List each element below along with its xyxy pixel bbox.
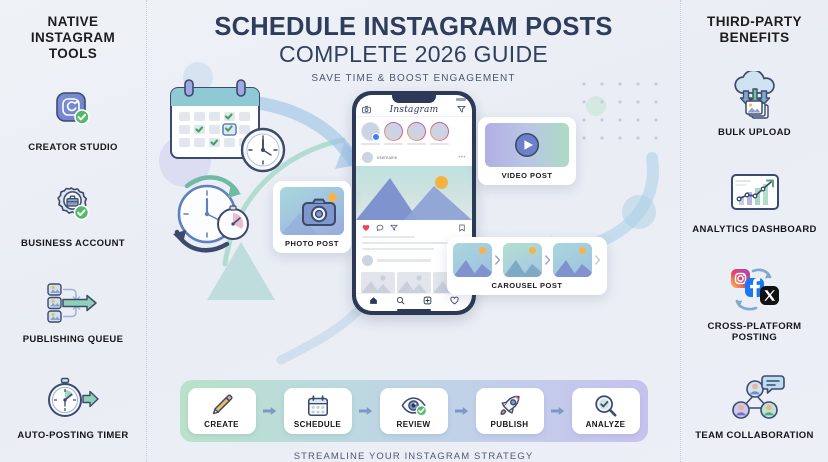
stopwatch-icon: [42, 374, 104, 424]
infographic-poster: NATIVE INSTAGRAM TOOLS: [0, 0, 828, 462]
post-username: username: [377, 155, 397, 160]
sidebar-item-creator-studio[interactable]: CREATOR STUDIO: [6, 86, 140, 154]
workflow-arrow-icon: [359, 406, 373, 416]
calendar-icon: [306, 394, 330, 418]
caption-line: [377, 259, 431, 261]
sidebar-item-bulk-upload[interactable]: BULK UPLOAD: [687, 71, 822, 139]
chevron-right-icon[interactable]: [594, 254, 601, 266]
post-header: username •••: [356, 149, 472, 166]
avatar: [362, 152, 373, 163]
sidebar-item-label: BULK UPLOAD: [718, 127, 791, 139]
avatar: [362, 255, 373, 266]
right-sidebar-title: THIRD-PARTY BENEFITS: [687, 14, 822, 46]
right-sidebar-items: BULK UPLOAD: [687, 56, 822, 456]
bottom-tab-bar[interactable]: [356, 293, 472, 308]
post-image: [356, 166, 472, 220]
left-sidebar: NATIVE INSTAGRAM TOOLS: [0, 0, 147, 462]
sidebar-item-business-account[interactable]: BUSINESS ACCOUNT: [6, 182, 140, 250]
search-icon[interactable]: [396, 296, 405, 305]
workflow-step-create[interactable]: CREATE: [188, 388, 256, 434]
workflow-arrow-icon: [455, 406, 469, 416]
magnifier-check-icon: [594, 394, 618, 418]
story-item[interactable]: [407, 122, 426, 145]
bookmark-icon[interactable]: [458, 224, 466, 232]
header-block: SCHEDULE INSTAGRAM POSTS COMPLETE 2026 G…: [214, 0, 612, 84]
home-icon[interactable]: [369, 296, 378, 305]
workflow-arrow-icon: [263, 406, 277, 416]
cloud-upload-icon: [726, 71, 784, 121]
workflow-step-analyze[interactable]: ANALYZE: [572, 388, 640, 434]
left-sidebar-items: CREATOR STUDIO BUSINESS ACCOUNT: [6, 72, 140, 456]
workflow-step-label: REVIEW: [397, 420, 431, 429]
play-icon: [514, 132, 540, 158]
workflow-step-schedule[interactable]: SCHEDULE: [284, 388, 352, 434]
workflow-arrow-icon: [551, 406, 565, 416]
center-panel: SCHEDULE INSTAGRAM POSTS COMPLETE 2026 G…: [147, 0, 680, 462]
carousel-thumb[interactable]: [453, 243, 492, 277]
publishing-queue-icon: [42, 278, 104, 328]
story-item-own[interactable]: [361, 122, 380, 145]
stories-row[interactable]: [356, 117, 472, 149]
calendar-clock-illustration: [159, 76, 289, 176]
sidebar-item-auto-posting-timer[interactable]: AUTO-POSTING TIMER: [6, 374, 140, 442]
sidebar-item-publishing-queue[interactable]: PUBLISHING QUEUE: [6, 278, 140, 346]
photo-post-label: PHOTO POST: [280, 239, 344, 248]
more-options-icon[interactable]: •••: [458, 155, 466, 161]
video-post-label: VIDEO POST: [485, 171, 569, 180]
grid-thumb[interactable]: [361, 272, 395, 293]
instagram-wordmark: Instagram: [390, 105, 439, 115]
photo-post-thumbnail: [280, 187, 344, 235]
workflow-bar: CREATE SCHEDULE: [180, 380, 648, 442]
heart-icon[interactable]: [362, 224, 370, 232]
caption-line: [362, 242, 455, 244]
sidebar-item-label: AUTO-POSTING TIMER: [17, 430, 128, 442]
page-subtitle: COMPLETE 2026 GUIDE: [214, 42, 612, 67]
sidebar-item-label: BUSINESS ACCOUNT: [21, 238, 125, 250]
workflow-step-label: SCHEDULE: [294, 420, 341, 429]
carousel-thumb[interactable]: [553, 243, 592, 277]
footer-tagline: STREAMLINE YOUR INSTAGRAM STRATEGY: [294, 451, 534, 462]
grid-thumb[interactable]: [397, 272, 431, 293]
eye-check-icon: [401, 394, 427, 418]
page-title: SCHEDULE INSTAGRAM POSTS: [214, 14, 612, 40]
sidebar-item-label: CREATOR STUDIO: [28, 142, 118, 154]
rocket-icon: [498, 394, 522, 418]
photo-post-card[interactable]: PHOTO POST: [273, 181, 351, 253]
activity-icon[interactable]: [450, 296, 459, 305]
sidebar-item-label: TEAM COLLABORATION: [695, 430, 814, 442]
workflow-step-label: CREATE: [204, 420, 239, 429]
sidebar-item-label: ANALYTICS DASHBOARD: [692, 224, 817, 236]
carousel-thumb[interactable]: [503, 243, 542, 277]
sidebar-item-team-collaboration[interactable]: TEAM COLLABORATION: [687, 374, 822, 442]
recurring-clock-illustration: [161, 166, 281, 266]
business-badge-icon: [50, 182, 96, 232]
camera-icon: [280, 187, 344, 235]
post-actions: [356, 220, 472, 234]
video-post-card[interactable]: VIDEO POST: [478, 117, 576, 185]
analytics-chart-icon: [728, 168, 782, 218]
phone-notch: [392, 95, 436, 103]
team-network-icon: [724, 374, 786, 424]
camera-icon[interactable]: [362, 105, 371, 114]
sidebar-item-analytics-dashboard[interactable]: ANALYTICS DASHBOARD: [687, 168, 822, 236]
sidebar-item-label: CROSS-PLATFORM POSTING: [687, 321, 822, 344]
add-post-icon[interactable]: [423, 296, 432, 305]
workflow-step-label: ANALYZE: [586, 420, 626, 429]
share-icon[interactable]: [390, 224, 398, 232]
caption-line: [362, 248, 434, 250]
pencil-icon: [210, 394, 234, 418]
comment-icon[interactable]: [376, 224, 384, 232]
caption-line: [362, 236, 415, 238]
story-item[interactable]: [430, 122, 449, 145]
carousel-post-card[interactable]: CAROUSEL POST: [447, 237, 607, 295]
carousel-post-label: CAROUSEL POST: [453, 281, 601, 290]
workflow-step-review[interactable]: REVIEW: [380, 388, 448, 434]
workflow-step-label: PUBLISH: [491, 420, 529, 429]
right-sidebar: THIRD-PARTY BENEFITS B: [680, 0, 828, 462]
home-indicator: [356, 308, 472, 311]
send-icon[interactable]: [457, 105, 466, 114]
instagram-header: Instagram: [356, 103, 472, 117]
creator-studio-icon: [50, 86, 96, 136]
left-sidebar-title: NATIVE INSTAGRAM TOOLS: [6, 14, 140, 62]
chevron-right-icon[interactable]: [494, 254, 501, 266]
social-platforms-icon: [724, 265, 786, 315]
sidebar-item-label: PUBLISHING QUEUE: [23, 334, 124, 346]
sidebar-item-cross-platform-posting[interactable]: CROSS-PLATFORM POSTING: [687, 265, 822, 344]
video-post-thumbnail: [485, 123, 569, 167]
illustration-stage: Instagram username •••: [147, 84, 680, 380]
workflow-step-publish[interactable]: PUBLISH: [476, 388, 544, 434]
page-tagline: SAVE TIME & BOOST ENGAGEMENT: [214, 73, 612, 84]
chevron-right-icon[interactable]: [544, 254, 551, 266]
story-item[interactable]: [384, 122, 403, 145]
